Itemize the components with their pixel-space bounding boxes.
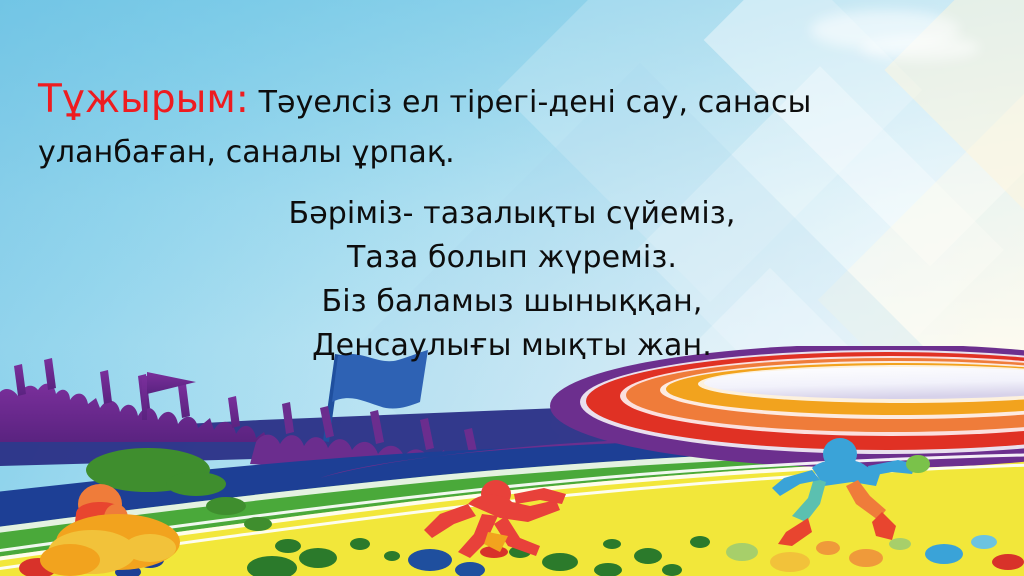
verse-line-3: Біз баламыз шыныққан,: [0, 280, 1024, 324]
summary-paragraph: Тұжырым: Тәуелсіз ел тірегі-дені сау, са…: [0, 75, 1024, 178]
summary-heading: Тұжырым:: [38, 77, 249, 122]
verse-line-4: Денсаулығы мықты жан.: [0, 324, 1024, 368]
verse-line-2: Таза болып жүреміз.: [0, 236, 1024, 280]
slide-text-block: Тұжырым: Тәуелсіз ел тірегі-дені сау, са…: [0, 0, 1024, 368]
stadium-illustration: [0, 346, 1024, 576]
slide-canvas: Тұжырым: Тәуелсіз ел тірегі-дені сау, са…: [0, 0, 1024, 576]
crowd-silhouette-left: [0, 358, 268, 442]
verse-line-1: Бәріміз- тазалықты сүйеміз,: [0, 192, 1024, 236]
